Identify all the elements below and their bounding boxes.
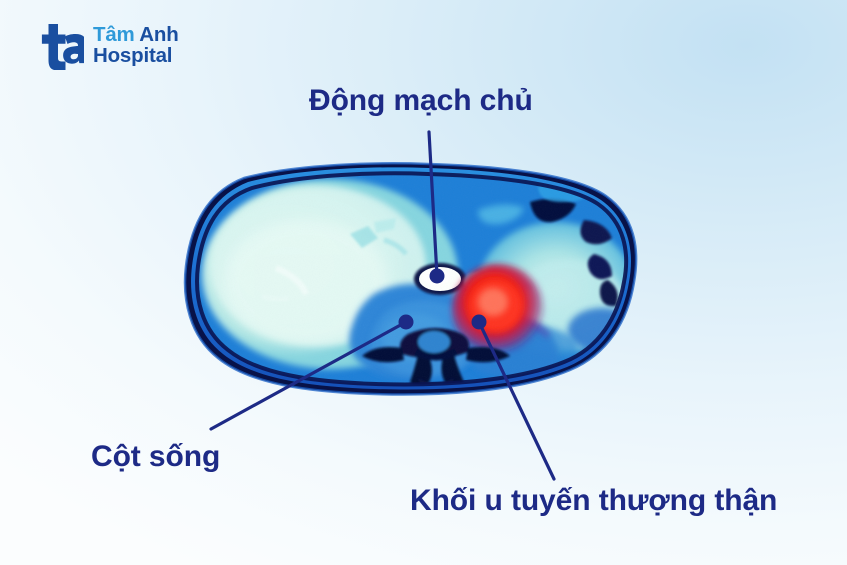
brand-logo: Tâm Anh Hospital — [34, 22, 179, 70]
label-aorta: Động mạch chủ — [309, 84, 533, 118]
label-spine: Cột sống — [91, 440, 220, 474]
ta-logomark-icon — [34, 22, 84, 70]
brand-word-anh: Anh — [139, 23, 178, 46]
ct-scan-svg — [178, 162, 660, 404]
brand-line-2: Hospital — [93, 46, 179, 67]
ct-scan-image — [178, 162, 660, 404]
illustration-canvas: Tâm Anh Hospital — [0, 0, 847, 565]
label-adrenal-tumor: Khối u tuyến thượng thận — [410, 484, 777, 518]
brand-wordmark: Tâm Anh Hospital — [93, 25, 179, 67]
brand-line-1: Tâm Anh — [93, 25, 179, 46]
brand-word-tam: Tâm — [93, 23, 139, 46]
